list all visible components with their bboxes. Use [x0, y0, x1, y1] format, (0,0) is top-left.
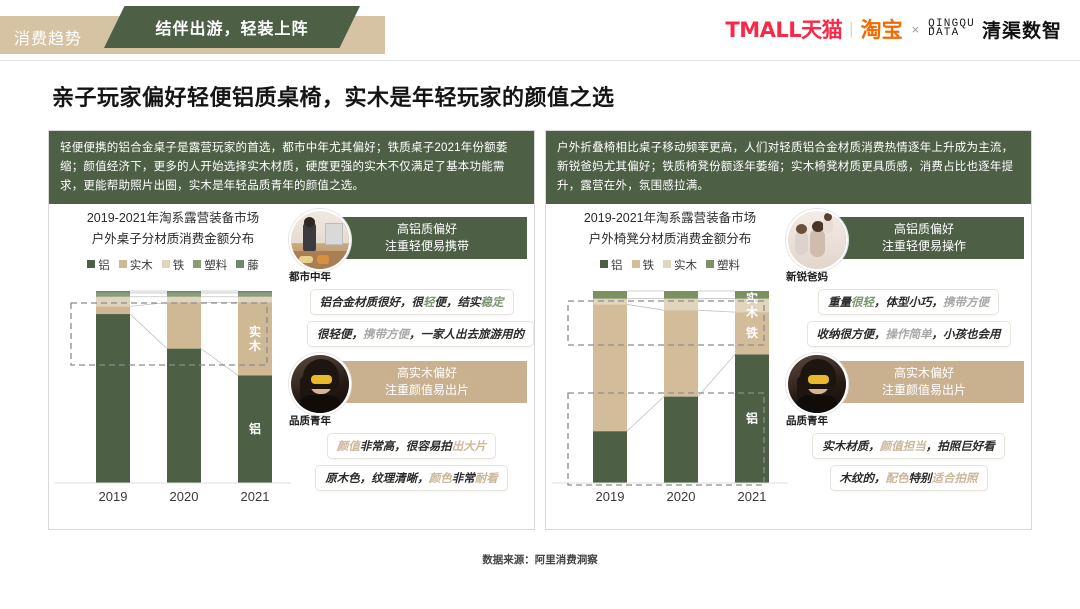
- bar-segment: [167, 293, 201, 297]
- father-shape: [810, 229, 825, 257]
- persona-banner: 高实木偏好注重颜值易出片: [327, 361, 527, 403]
- legend-label: 铝: [98, 260, 110, 272]
- legend-item-right-0: 铝: [600, 257, 623, 273]
- persona-banner-line1: 高铝质偏好: [397, 221, 457, 238]
- header-ribbon-label: 结伴出游，轻装上阵: [104, 6, 360, 48]
- quote-fragment: 非常高，很容易拍: [360, 441, 452, 453]
- quote-fragment: 便，结实: [435, 297, 481, 309]
- quote-fragment: 原木色，纹理清晰，: [325, 473, 429, 485]
- logo-separator: |: [849, 19, 853, 39]
- persona-banner-line1: 高实木偏好: [894, 365, 954, 382]
- persona-quote: 实木材质，颜值担当，拍照巨好看: [812, 433, 1005, 459]
- bar-segment-label: 铁: [746, 325, 758, 340]
- series-connector-line: [201, 349, 238, 376]
- left-chart-title-line2: 户外桌子分材质消费金额分布: [49, 229, 297, 250]
- quote-fragment: 携带方便: [943, 297, 989, 309]
- header-divider: [0, 60, 1080, 61]
- quote-fragment: 铝合金材质很好，很: [320, 297, 424, 309]
- header-category-label: 消费趋势: [14, 25, 82, 49]
- persona-quote-list: 实木材质，颜值担当，拍照巨好看木纹的，配色特别适合拍照: [786, 433, 1031, 497]
- right-persona-column: 高铝质偏好注重轻便易操作新锐爸妈重量很轻，体型小巧，携带方便收纳很方便，操作简单…: [786, 209, 1031, 497]
- quote-fragment: ，小孩也会用: [932, 329, 1001, 341]
- bar-segment: [593, 291, 627, 299]
- chart-svg: 实木铝201920202021: [49, 283, 297, 511]
- sunglasses-icon: [311, 375, 332, 384]
- quote-fragment: 木纹的，: [840, 473, 886, 485]
- legend-label: 实木: [674, 260, 697, 272]
- bar-segment: [167, 349, 201, 483]
- quote-fragment: 出大片: [452, 441, 487, 453]
- bar-segment-label: 铝: [746, 411, 758, 426]
- hair-shape: [303, 359, 339, 389]
- bar-segment: [96, 314, 130, 483]
- persona-tag: 品质青年: [786, 413, 828, 428]
- persona-card-left-1: 高实木偏好注重颜值易出片品质青年: [289, 353, 534, 415]
- kitchen-appliance-shape: [325, 223, 343, 245]
- body-shape: [796, 395, 838, 413]
- right-chart-title-line1: 2019-2021年淘系露营装备市场: [546, 208, 794, 229]
- x-axis-tick-label: 2020: [170, 489, 199, 504]
- legend-swatch-icon: [87, 260, 95, 268]
- x-axis-tick-label: 2021: [738, 489, 767, 504]
- quote-fragment: 配色: [886, 473, 909, 485]
- persona-banner-line2: 注重颜值易出片: [882, 382, 966, 399]
- quality-youth-avatar: [289, 353, 351, 415]
- legend-label: 塑料: [717, 260, 740, 272]
- x-axis-tick-label: 2021: [241, 489, 270, 504]
- quote-fragment: 实木材质，: [822, 441, 880, 453]
- persona-quote: 颜值非常高，很容易拍出大片: [327, 433, 497, 459]
- left-persona-column: 高铝质偏好注重轻便易携带都市中年铝合金材质很好，很轻便，结实稳定很轻便，携带方便…: [289, 209, 534, 497]
- legend-label: 藤: [247, 260, 259, 272]
- legend-swatch-icon: [632, 260, 640, 268]
- x-axis-tick-label: 2019: [99, 489, 128, 504]
- left-chart-title-line1: 2019-2021年淘系露营装备市场: [49, 208, 297, 229]
- legend-item-left-0: 铝: [87, 257, 110, 273]
- legend-swatch-icon: [236, 260, 244, 268]
- legend-label: 铁: [643, 260, 655, 272]
- bar-segment: [664, 310, 698, 396]
- series-connector-line: [627, 304, 664, 310]
- persona-banner-line1: 高铝质偏好: [894, 221, 954, 238]
- persona-quote: 收纳很方便，操作简单，小孩也会用: [807, 321, 1011, 347]
- bar-segment: [593, 304, 627, 431]
- quote-fragment: 稳定: [481, 297, 504, 309]
- quote-fragment: 轻: [423, 297, 435, 309]
- page-title: 亲子玩家偏好轻便铝质桌椅，实木是年轻玩家的颜值之选: [52, 80, 615, 112]
- bar-segment: [664, 291, 698, 299]
- right-panel: 户外折叠椅相比桌子移动频率更高，人们对轻质铝合金材质消费热情逐年上升成为主流，新…: [545, 130, 1032, 530]
- quote-fragment: 特别: [909, 473, 932, 485]
- series-connector-line: [698, 310, 735, 312]
- bar-segment: [96, 297, 130, 307]
- quality-youth-photo: [291, 355, 349, 413]
- legend-item-right-2: 实木: [663, 257, 697, 273]
- quality-youth-photo: [788, 355, 846, 413]
- legend-swatch-icon: [193, 260, 201, 268]
- legend-swatch-icon: [706, 260, 714, 268]
- new-parents-avatar: [786, 209, 848, 271]
- quote-fragment: 携带方便: [363, 329, 409, 341]
- bar-segment: [238, 297, 272, 303]
- bar-segment-label: 木: [248, 338, 262, 353]
- page-header: 消费趋势 结伴出游，轻装上阵 TMALL天猫 | 淘宝 × QINGQU DAT…: [0, 0, 1080, 62]
- left-panel: 轻便便携的铝合金桌子是露营玩家的首选，都市中年尤其偏好；铁质桌子2021年份额萎…: [48, 130, 535, 530]
- urban-midage-photo: [291, 211, 349, 269]
- persona-banner: 高铝质偏好注重轻便易操作: [824, 217, 1024, 259]
- legend-item-left-3: 塑料: [193, 257, 227, 273]
- quote-fragment: 颜色: [429, 473, 452, 485]
- persona-banner-line2: 注重颜值易出片: [385, 382, 469, 399]
- data-source-footer: 数据来源：阿里消费洞察: [0, 552, 1080, 567]
- persona-quote: 铝合金材质很好，很轻便，结实稳定: [310, 289, 514, 315]
- bar-segment: [238, 293, 272, 297]
- right-chart-legend: 铝铁实木塑料: [546, 257, 794, 273]
- quote-fragment: 颜值: [337, 441, 360, 453]
- persona-banner: 高实木偏好注重颜值易出片: [824, 361, 1024, 403]
- legend-label: 铁: [173, 260, 185, 272]
- legend-label: 实木: [130, 260, 153, 272]
- quote-fragment: 很轻: [851, 297, 874, 309]
- left-chart-title: 2019-2021年淘系露营装备市场 户外桌子分材质消费金额分布: [49, 205, 297, 250]
- persona-quote-list: 铝合金材质很好，很轻便，结实稳定很轻便，携带方便，一家人出去旅游用的: [289, 289, 534, 353]
- persona-quote-list: 颜值非常高，很容易拍出大片原木色，纹理清晰，颜色非常耐看: [289, 433, 534, 497]
- qingqu-data-logo: QINGQU DATA: [928, 20, 975, 38]
- quote-fragment: 收纳很方便，: [817, 329, 886, 341]
- quote-fragment: 颜值担当: [880, 441, 926, 453]
- legend-item-left-2: 铁: [162, 257, 185, 273]
- persona-banner-line1: 高实木偏好: [397, 365, 457, 382]
- left-chart: 实木铝201920202021: [49, 283, 297, 511]
- tmall-logo: TMALL天猫: [725, 14, 842, 44]
- bar-segment: [664, 397, 698, 483]
- series-connector-line: [130, 314, 167, 349]
- new-parents-photo: [788, 211, 846, 269]
- mother-head-shape: [796, 224, 807, 234]
- right-chart: 实木铁铝201920202021: [546, 283, 794, 511]
- quote-fragment: ，拍照巨好看: [926, 441, 995, 453]
- series-connector-line: [698, 354, 735, 396]
- right-chart-title: 2019-2021年淘系露营装备市场 户外椅凳分材质消费金额分布: [546, 205, 794, 250]
- x-axis-tick-label: 2020: [667, 489, 696, 504]
- quote-fragment: ，体型小巧，: [874, 297, 943, 309]
- x-axis-tick-label: 2019: [596, 489, 625, 504]
- legend-item-left-1: 实木: [119, 257, 153, 273]
- bar-segment: [593, 431, 627, 483]
- persona-tag: 新锐爸妈: [786, 269, 828, 284]
- food-shape-1: [299, 256, 313, 263]
- left-chart-zone: 2019-2021年淘系露营装备市场 户外桌子分材质消费金额分布 铝实木铁塑料藤…: [49, 205, 297, 529]
- bar-segment: [96, 306, 130, 314]
- legend-label: 铝: [611, 260, 623, 272]
- bar-segment: [167, 297, 201, 303]
- legend-swatch-icon: [119, 260, 127, 268]
- bar-segment-label: 铝: [249, 421, 261, 436]
- left-chart-legend: 铝实木铁塑料藤: [49, 257, 297, 273]
- qingqu-logo-line2: DATA: [928, 29, 975, 38]
- quote-fragment: 重量: [828, 297, 851, 309]
- left-summary-text: 轻便便携的铝合金桌子是露营玩家的首选，都市中年尤其偏好；铁质桌子2021年份额萎…: [49, 131, 534, 204]
- chart-svg: 实木铁铝201920202021: [546, 283, 794, 511]
- right-chart-title-line2: 户外椅凳分材质消费金额分布: [546, 229, 794, 250]
- cross-icon: ×: [912, 22, 920, 37]
- persona-banner: 高铝质偏好注重轻便易携带: [327, 217, 527, 259]
- legend-swatch-icon: [162, 260, 170, 268]
- persona-quote: 很轻便，携带方便，一家人出去旅游用的: [307, 321, 534, 347]
- persona-card-right-1: 高实木偏好注重颜值易出片品质青年: [786, 353, 1031, 415]
- brand-logos: TMALL天猫 | 淘宝 × QINGQU DATA 清渠数智: [725, 14, 1062, 44]
- sunglasses-icon: [808, 375, 829, 384]
- quote-fragment: 很轻便，: [317, 329, 363, 341]
- legend-item-left-4: 藤: [236, 257, 259, 273]
- bar-segment: [238, 291, 272, 293]
- quote-fragment: ，一家人出去旅游用的: [409, 329, 524, 341]
- persona-banner-line2: 注重轻便易携带: [385, 238, 469, 255]
- persona-banner-line2: 注重轻便易操作: [882, 238, 966, 255]
- quote-fragment: 非常: [452, 473, 475, 485]
- persona-card-left-0: 高铝质偏好注重轻便易携带都市中年: [289, 209, 534, 271]
- quality-youth-avatar: [786, 353, 848, 415]
- food-shape-2: [317, 255, 329, 264]
- quote-fragment: 适合拍照: [932, 473, 978, 485]
- body-shape: [299, 395, 341, 413]
- qingqu-cn-logo: 清渠数智: [982, 16, 1062, 43]
- persona-tag: 都市中年: [289, 269, 331, 284]
- mother-shape: [795, 231, 808, 255]
- legend-item-right-1: 铁: [632, 257, 655, 273]
- legend-label: 塑料: [204, 260, 227, 272]
- bar-segment: [96, 291, 130, 293]
- bar-segment: [96, 293, 130, 297]
- bar-segment-label: 实: [249, 324, 261, 339]
- legend-item-right-3: 塑料: [706, 257, 740, 273]
- persona-quote: 原木色，纹理清晰，颜色非常耐看: [315, 465, 508, 491]
- hair-shape: [800, 359, 836, 389]
- persona-quote-list: 重量很轻，体型小巧，携带方便收纳很方便，操作简单，小孩也会用: [786, 289, 1031, 353]
- bar-segment-label: 实: [746, 290, 758, 305]
- bar-segment: [167, 303, 201, 349]
- urban-midage-avatar: [289, 209, 351, 271]
- persona-card-right-0: 高铝质偏好注重轻便易操作新锐爸妈: [786, 209, 1031, 271]
- quote-fragment: 耐看: [475, 473, 498, 485]
- right-chart-zone: 2019-2021年淘系露营装备市场 户外椅凳分材质消费金额分布 铝铁实木塑料 …: [546, 205, 794, 529]
- legend-swatch-icon: [600, 260, 608, 268]
- legend-swatch-icon: [663, 260, 671, 268]
- persona-quote: 重量很轻，体型小巧，携带方便: [818, 289, 999, 315]
- persona-quote: 木纹的，配色特别适合拍照: [830, 465, 988, 491]
- right-summary-text: 户外折叠椅相比桌子移动频率更高，人们对轻质铝合金材质消费热情逐年上升成为主流，新…: [546, 131, 1031, 204]
- child-head-shape: [824, 213, 832, 221]
- quote-fragment: 操作简单: [886, 329, 932, 341]
- taobao-logo: 淘宝: [861, 14, 903, 44]
- bar-segment-label: 木: [745, 304, 759, 319]
- series-connector-line: [627, 397, 664, 432]
- bar-segment: [167, 291, 201, 293]
- persona-tag: 品质青年: [289, 413, 331, 428]
